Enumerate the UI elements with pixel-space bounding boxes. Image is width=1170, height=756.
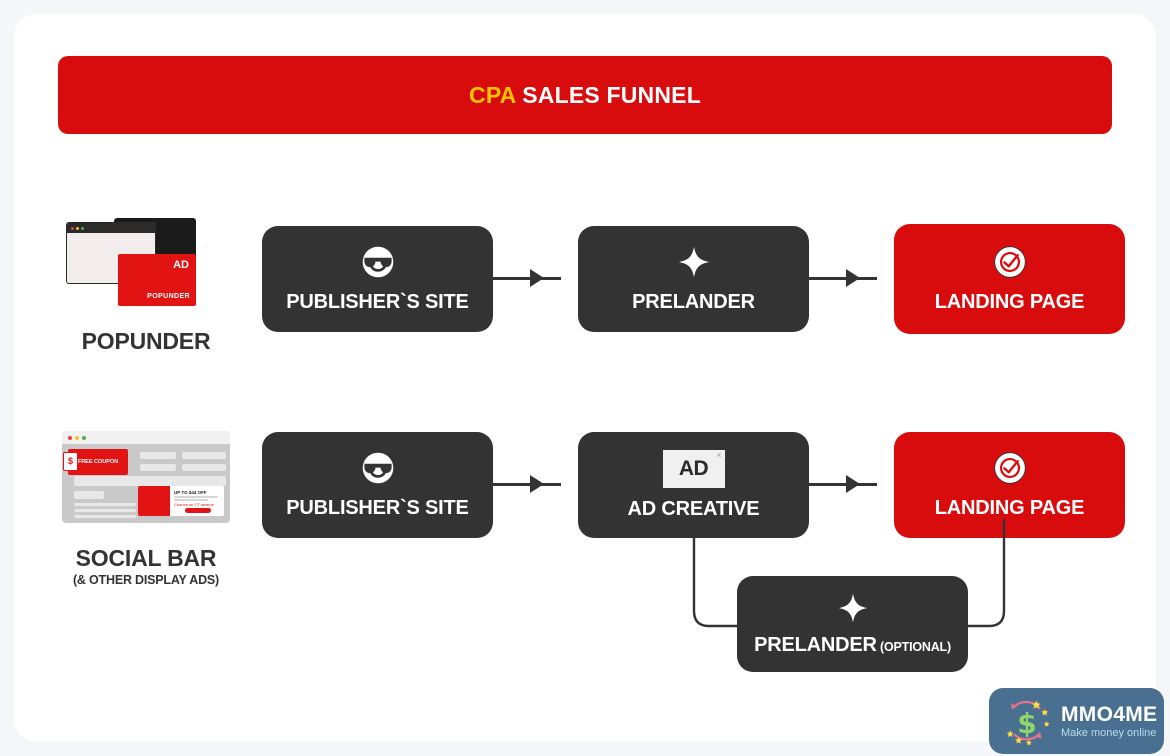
connector-arrowhead-2 xyxy=(846,269,860,287)
connector-line-2 xyxy=(809,277,877,280)
notification-cta-button[interactable] xyxy=(185,508,211,513)
sunglasses-smiley-icon xyxy=(361,245,395,279)
node-publisher-site-1[interactable]: PUBLISHER`S SITE xyxy=(262,226,493,332)
node-prelander-optional[interactable]: PRELANDER (OPTIONAL) xyxy=(737,576,968,672)
browser-titlebar-shape xyxy=(62,431,230,444)
free-coupon-ad-shape: FREE COUPON $ xyxy=(68,449,128,475)
popunder-ad-panel: AD POPUNDER xyxy=(118,254,196,306)
node-label: PRELANDER (OPTIONAL) xyxy=(754,634,951,657)
close-icon[interactable]: × xyxy=(716,450,721,460)
node-label: PRELANDER xyxy=(632,291,755,314)
channel-social-bar: FREE COUPON $ UP TO $44 OFF Chance on CT… xyxy=(56,429,236,587)
page-block-shape xyxy=(182,452,226,459)
dollar-stars-icon: $ xyxy=(999,693,1055,749)
page-card: CPA SALES FUNNEL AD POPUNDER POPUNDER xyxy=(14,14,1156,742)
window-maximize-dot-icon xyxy=(82,436,86,440)
window-close-dot-icon xyxy=(71,227,74,230)
window-minimize-dot-icon xyxy=(76,227,79,230)
node-label: LANDING PAGE xyxy=(935,497,1084,520)
page-block-shape xyxy=(74,515,136,518)
logo-badge[interactable]: $ MMO4ME Make money online xyxy=(989,688,1164,754)
page-block-shape xyxy=(182,464,226,471)
connector-line-1 xyxy=(493,277,561,280)
popunder-illustration: AD POPUNDER xyxy=(56,212,236,320)
browser-titlebar-shape xyxy=(67,223,155,233)
node-label-optional: (OPTIONAL) xyxy=(877,640,951,654)
page-title-accent: CPA xyxy=(469,82,516,108)
connector-arrowhead-1 xyxy=(530,269,544,287)
window-maximize-dot-icon xyxy=(81,227,84,230)
dollar-badge-icon: $ xyxy=(63,452,78,471)
check-circle-icon xyxy=(993,245,1027,279)
social-bar-illustration: FREE COUPON $ UP TO $44 OFF Chance on CT… xyxy=(56,429,236,537)
ad-chip-icon: AD × xyxy=(663,450,725,488)
popunder-type-label: POPUNDER xyxy=(147,293,190,300)
notification-thumbnail-shape xyxy=(138,486,170,516)
page-block-shape xyxy=(74,476,226,486)
channel-title-popunder: POPUNDER xyxy=(56,328,236,355)
notification-title: UP TO $44 OFF xyxy=(174,490,207,495)
free-coupon-label: FREE COUPON xyxy=(78,458,118,466)
page-block-shape xyxy=(74,503,136,506)
page-block-shape xyxy=(74,491,104,499)
sparkle-icon xyxy=(677,245,711,279)
logo-tagline: Make money online xyxy=(1061,728,1157,739)
sparkle-icon xyxy=(837,592,869,624)
notification-text-line xyxy=(174,496,218,498)
connector-arrowhead-4 xyxy=(846,475,860,493)
node-landing-page-1[interactable]: LANDING PAGE xyxy=(894,224,1125,334)
ad-chip-label: AD xyxy=(679,457,708,481)
connector-line-3 xyxy=(493,483,561,486)
page-title: CPA SALES FUNNEL xyxy=(469,82,701,109)
channel-subtitle-social-bar: (& OTHER DISPLAY ADS) xyxy=(56,573,236,587)
node-label-main: PRELANDER xyxy=(754,634,877,656)
notification-ad-shape: UP TO $44 OFF Chance on CT awards xyxy=(138,486,224,516)
check-circle-icon xyxy=(993,451,1027,485)
node-publisher-site-2[interactable]: PUBLISHER`S SITE xyxy=(262,432,493,538)
channel-title-social-bar: SOCIAL BAR xyxy=(56,545,236,572)
node-label: LANDING PAGE xyxy=(935,291,1084,314)
popunder-ad-label: AD xyxy=(173,259,189,271)
notification-offer-text: Chance on CT awards xyxy=(174,502,214,507)
page-block-shape xyxy=(74,509,136,512)
page-block-shape xyxy=(140,464,176,471)
connector-arrowhead-3 xyxy=(530,475,544,493)
node-prelander-1[interactable]: PRELANDER xyxy=(578,226,809,332)
logo-name: MMO4ME xyxy=(1061,704,1157,725)
logo-text: MMO4ME Make money online xyxy=(1061,704,1157,739)
connector-line-4 xyxy=(809,483,877,486)
notification-text-line xyxy=(174,499,208,501)
window-minimize-dot-icon xyxy=(75,436,79,440)
svg-text:$: $ xyxy=(1017,707,1036,740)
window-close-dot-icon xyxy=(68,436,72,440)
page-title-rest: SALES FUNNEL xyxy=(516,82,701,108)
page-block-shape xyxy=(140,452,176,459)
sunglasses-smiley-icon xyxy=(361,451,395,485)
node-label: PUBLISHER`S SITE xyxy=(286,497,468,520)
node-label: AD CREATIVE xyxy=(628,498,760,521)
page-title-banner: CPA SALES FUNNEL xyxy=(58,56,1112,134)
channel-popunder: AD POPUNDER POPUNDER xyxy=(56,212,236,355)
node-label: PUBLISHER`S SITE xyxy=(286,291,468,314)
